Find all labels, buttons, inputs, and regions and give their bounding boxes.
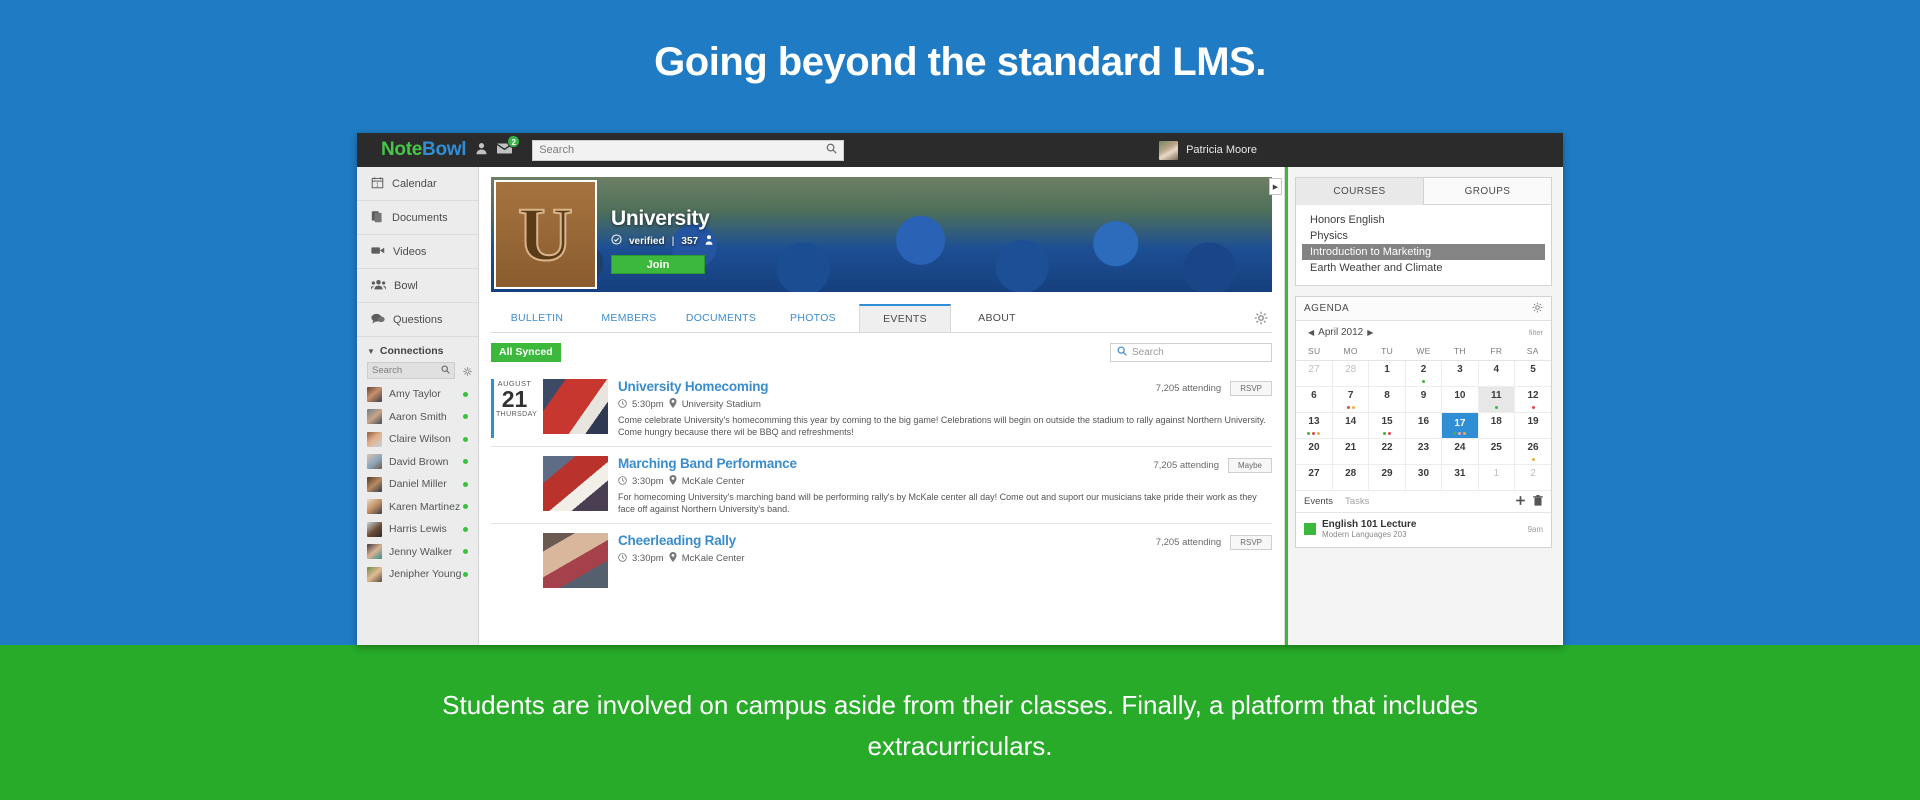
slide-headline: Going beyond the standard LMS. — [0, 40, 1920, 85]
calendar-day-cell[interactable]: 1 — [1369, 361, 1405, 387]
calendar-day-number: 13 — [1308, 416, 1319, 427]
calendar-event-dot — [1463, 432, 1466, 435]
tab-events[interactable]: EVENTS — [859, 304, 951, 332]
calendar-day-cell[interactable]: 17 — [1442, 413, 1478, 439]
list-item[interactable]: Jenny Walker — [357, 541, 478, 564]
calendar-day-cell[interactable]: 22 — [1369, 439, 1405, 465]
calendar-day-cell[interactable]: 1 — [1478, 465, 1514, 491]
event-title[interactable]: Marching Band Performance — [618, 456, 797, 471]
slide-subline: Students are involved on campus aside fr… — [400, 685, 1520, 767]
calendar-day-cell[interactable]: 31 — [1442, 465, 1478, 491]
calendar-day-dots — [1296, 432, 1332, 435]
sidebar-item-label: Videos — [393, 246, 426, 258]
list-item[interactable]: Marching Band Performance 7,205 attendin… — [491, 446, 1272, 515]
connection-name: Karen Martinez — [389, 501, 460, 513]
list-item[interactable]: AUGUST 21 THURSDAY University Homecoming… — [491, 370, 1272, 438]
calendar-event-dot — [1422, 380, 1425, 383]
video-camera-icon — [371, 244, 385, 260]
calendar-day-number: 5 — [1530, 364, 1536, 375]
event-time: 3:30pm — [632, 553, 664, 564]
tab-events[interactable]: Events — [1304, 496, 1333, 507]
agenda-actions — [1515, 495, 1543, 509]
avatar — [367, 544, 382, 559]
event-subline: 5:30pm University Stadium — [618, 398, 1272, 410]
agenda-item-text: English 101 Lecture Modern Languages 203 — [1322, 519, 1416, 539]
avatar — [367, 387, 382, 402]
calendar-day-cell[interactable]: 6 — [1296, 387, 1332, 413]
location-pin-icon — [669, 398, 677, 410]
weekday-header: TU — [1369, 343, 1405, 361]
calendar-day-number: 28 — [1345, 468, 1356, 479]
tab-label: GROUPS — [1465, 186, 1511, 197]
calendar-day-number: 11 — [1491, 390, 1502, 401]
connection-name: Aaron Smith — [389, 411, 447, 423]
group-logo-letter: U — [518, 197, 573, 273]
calendar-day-dots — [1442, 432, 1477, 435]
events-search-input[interactable]: Search — [1110, 343, 1272, 362]
status-badge — [463, 414, 468, 419]
calendar-day-cell[interactable]: 21 — [1332, 439, 1368, 465]
list-item[interactable]: Aaron Smith — [357, 406, 478, 429]
calendar-day-dots — [1333, 406, 1368, 409]
avatar — [367, 454, 382, 469]
status-badge — [463, 572, 468, 577]
notebowl-logo[interactable]: NoteBowl — [381, 139, 466, 161]
clock-icon — [618, 399, 627, 410]
join-label: Join — [647, 259, 670, 271]
group-meta: verified | 357 — [611, 234, 713, 248]
sidebar-item-bowl[interactable]: Bowl — [357, 269, 478, 303]
agenda-item-sub: Modern Languages 203 — [1322, 530, 1416, 539]
weekday-header: MO — [1332, 343, 1368, 361]
calendar-event-dot — [1495, 406, 1498, 409]
calendar-event-dot — [1532, 406, 1535, 409]
calendar-day-cell[interactable]: 14 — [1332, 413, 1368, 439]
search-icon — [1117, 346, 1127, 359]
calendar-event-dot — [1383, 432, 1386, 435]
agenda-item-name: English 101 Lecture — [1322, 519, 1416, 530]
person-icon[interactable] — [475, 142, 488, 158]
gear-icon[interactable] — [1254, 304, 1272, 332]
list-item[interactable]: Claire Wilson — [357, 428, 478, 451]
status-badge — [463, 549, 468, 554]
calendar-day-cell[interactable]: 4 — [1478, 361, 1514, 387]
courses-list: Honors English Physics Introduction to M… — [1296, 205, 1551, 285]
group-title: University — [611, 207, 713, 231]
calendar-week-row: 20212223242526 — [1296, 439, 1551, 465]
user-name: Patricia Moore — [1186, 144, 1257, 156]
gear-icon[interactable] — [463, 367, 472, 378]
envelope-icon[interactable]: 2 — [497, 142, 512, 158]
connection-name: Jenny Walker — [389, 546, 452, 558]
calendar-week-row: 272812345 — [1296, 361, 1551, 387]
calendar-day-cell[interactable]: 30 — [1405, 465, 1441, 491]
calendar-day-cell[interactable]: 13 — [1296, 413, 1332, 439]
calendar-day-number: 27 — [1308, 468, 1319, 479]
sidebar-item-videos[interactable]: Videos — [357, 235, 478, 269]
tab-courses[interactable]: COURSES — [1296, 178, 1423, 205]
tab-bulletin[interactable]: BULLETIN — [491, 304, 583, 332]
connection-name: Harris Lewis — [389, 523, 447, 535]
event-header: Marching Band Performance 7,205 attendin… — [618, 456, 1272, 473]
event-subline: 3:30pm McKale Center — [618, 475, 1272, 487]
messages-badge: 2 — [507, 135, 520, 148]
status-badge — [463, 459, 468, 464]
calendar-day-cell[interactable]: 20 — [1296, 439, 1332, 465]
connections-header[interactable]: ▼ Connections — [357, 337, 478, 362]
status-badge — [463, 437, 468, 442]
list-item[interactable]: Honors English — [1302, 212, 1545, 228]
calendar-day-number: 17 — [1451, 416, 1468, 431]
documents-icon — [371, 210, 384, 226]
chevron-right-icon[interactable]: ▶ — [1269, 178, 1282, 195]
connections-search-input[interactable]: Search — [367, 362, 455, 379]
triangle-right-icon[interactable]: ▶ — [1363, 328, 1377, 337]
left-sidebar: 1 Calendar Documents Videos — [357, 167, 479, 645]
weekday-header: TH — [1442, 343, 1478, 361]
calendar-day-cell[interactable]: 27 — [1296, 361, 1332, 387]
group-cover: U University verified | 357 — [491, 177, 1272, 292]
event-date — [491, 533, 533, 588]
filter-link[interactable]: filter — [1529, 328, 1543, 337]
month-navigator: ◀ April 2012 ▶ filter — [1296, 321, 1551, 343]
app-body: 1 Calendar Documents Videos — [357, 167, 1563, 645]
avatar — [367, 522, 382, 537]
clock-icon — [618, 553, 627, 564]
event-location: McKale Center — [682, 553, 745, 564]
event-weekday: THURSDAY — [496, 411, 533, 418]
calendar-day-dots — [1515, 458, 1551, 461]
event-body: University Homecoming 7,205 attending RS… — [618, 379, 1272, 438]
event-date: AUGUST 21 THURSDAY — [491, 379, 533, 438]
tab-documents[interactable]: DOCUMENTS — [675, 304, 767, 332]
cover-photo — [491, 177, 1272, 292]
event-actions: 7,205 attending RSVP — [1156, 533, 1272, 550]
calendar-day-number: 22 — [1381, 442, 1392, 453]
search-icon — [441, 365, 450, 377]
calendar-day-number: 2 — [1530, 468, 1536, 479]
group-tabs: BULLETIN MEMBERS DOCUMENTS PHOTOS EVENTS… — [491, 304, 1272, 333]
event-time: 3:30pm — [632, 476, 664, 487]
event-date — [491, 456, 533, 515]
calendar-grid: SU MO TU WE TH FR SA 2728123456789101112… — [1296, 343, 1551, 491]
event-description: For homecoming University's marching ban… — [618, 491, 1272, 515]
calendar-day-cell[interactable]: 25 — [1478, 439, 1514, 465]
calendar-day-number: 10 — [1454, 390, 1465, 401]
connections-title: Connections — [380, 345, 444, 357]
weekday-header: SU — [1296, 343, 1332, 361]
center-column: U University verified | 357 — [479, 167, 1284, 645]
sidebar-item-questions[interactable]: Questions — [357, 303, 478, 337]
calendar-day-number: 30 — [1418, 468, 1429, 479]
agenda-subtabs: Events Tasks — [1296, 491, 1551, 513]
connections-search-row: Search — [357, 362, 478, 383]
calendar-day-number: 9 — [1421, 390, 1427, 401]
global-search-placeholder: Search — [539, 144, 826, 156]
list-item[interactable]: Karen Martinez — [357, 496, 478, 519]
event-actions: 7,205 attending RSVP — [1156, 379, 1272, 396]
connection-name: Jenipher Young — [389, 568, 461, 580]
logo-note: Note — [381, 139, 422, 160]
calendar-day-cell[interactable]: 7 — [1332, 387, 1368, 413]
calendar-day-cell[interactable]: 16 — [1405, 413, 1441, 439]
list-item[interactable]: English 101 Lecture Modern Languages 203… — [1296, 513, 1551, 547]
calendar-day-cell[interactable]: 27 — [1296, 465, 1332, 491]
agenda-title: AGENDA — [1304, 303, 1349, 314]
rsvp-button[interactable]: RSVP — [1230, 381, 1272, 396]
chevron-down-icon: ▼ — [367, 347, 375, 356]
calendar-day-number: 8 — [1384, 390, 1390, 401]
group-icon — [371, 278, 386, 294]
calendar-day-cell[interactable]: 2 — [1515, 465, 1551, 491]
tab-about[interactable]: ABOUT — [951, 304, 1043, 332]
calendar-day-number: 3 — [1457, 364, 1463, 375]
calendar-weekday-row: SU MO TU WE TH FR SA — [1296, 343, 1551, 361]
user-menu[interactable]: Patricia Moore — [1159, 133, 1257, 167]
logo-bowl: Bowl — [422, 139, 466, 160]
speech-bubble-icon — [371, 312, 385, 328]
calendar-day-cell[interactable]: 28 — [1332, 361, 1368, 387]
tab-groups[interactable]: GROUPS — [1423, 178, 1551, 205]
divider: | — [672, 236, 675, 247]
events-list: AUGUST 21 THURSDAY University Homecoming… — [491, 370, 1272, 588]
calendar-event-dot — [1317, 432, 1320, 435]
event-description: Come celebrate University's homecomming … — [618, 414, 1272, 438]
tab-label: DOCUMENTS — [686, 312, 756, 324]
event-attending: 7,205 attending — [1156, 383, 1222, 394]
event-title[interactable]: Cheerleading Rally — [618, 533, 736, 548]
app-topbar: NoteBowl 2 Search Patricia Moore — [357, 133, 1563, 167]
join-button[interactable]: Join — [611, 255, 705, 274]
svg-text:1: 1 — [376, 182, 379, 188]
list-item[interactable]: Physics — [1302, 228, 1545, 244]
panel-accent-rail — [1285, 167, 1288, 645]
tab-members[interactable]: MEMBERS — [583, 304, 675, 332]
calendar-day-cell[interactable]: 18 — [1478, 413, 1514, 439]
calendar-day-cell[interactable]: 5 — [1515, 361, 1551, 387]
connection-name: Amy Taylor — [389, 388, 441, 400]
calendar-event-dot — [1312, 432, 1315, 435]
calendar-day-number: 16 — [1418, 416, 1429, 427]
calendar-event-dot — [1458, 432, 1461, 435]
tab-label: ABOUT — [978, 312, 1016, 324]
global-search-input[interactable]: Search — [532, 140, 844, 161]
calendar-day-number: 19 — [1527, 416, 1538, 427]
clock-icon — [618, 476, 627, 487]
agenda-color-swatch — [1304, 523, 1316, 535]
sync-label: All Synced — [499, 346, 553, 358]
cover-info: University verified | 357 Join — [611, 207, 713, 274]
location-pin-icon — [669, 552, 677, 564]
list-item[interactable]: Jenipher Young — [357, 563, 478, 586]
sidebar-item-label: Bowl — [394, 280, 418, 292]
event-thumbnail — [543, 533, 608, 588]
event-thumbnail — [543, 379, 608, 434]
calendar-day-number: 27 — [1308, 364, 1319, 375]
calendar-event-dot — [1532, 458, 1535, 461]
event-body: Marching Band Performance 7,205 attendin… — [618, 456, 1272, 515]
calendar-week-row: 272829303112 — [1296, 465, 1551, 491]
weekday-header: FR — [1478, 343, 1514, 361]
tab-photos[interactable]: PHOTOS — [767, 304, 859, 332]
calendar-event-dot — [1347, 406, 1350, 409]
group-logo[interactable]: U — [494, 180, 597, 289]
tab-label: MEMBERS — [601, 312, 656, 324]
calendar-day-number: 25 — [1491, 442, 1502, 453]
event-location: University Stadium — [682, 399, 761, 410]
connection-name: David Brown — [389, 456, 449, 468]
calendar-day-cell[interactable]: 15 — [1369, 413, 1405, 439]
calendar-day-cell[interactable]: 2 — [1405, 361, 1441, 387]
calendar-day-number: 4 — [1494, 364, 1500, 375]
list-item[interactable]: Cheerleading Rally 7,205 attending RSVP … — [491, 523, 1272, 588]
avatar — [367, 499, 382, 514]
calendar-day-number: 31 — [1454, 468, 1465, 479]
all-synced-button[interactable]: All Synced — [491, 343, 561, 362]
calendar-day-number: 24 — [1454, 442, 1465, 453]
event-day: 21 — [496, 388, 533, 411]
agenda-panel: AGENDA ◀ April 2012 ▶ filter SU MO — [1295, 296, 1552, 548]
event-title[interactable]: University Homecoming — [618, 379, 768, 394]
sidebar-item-label: Documents — [392, 212, 448, 224]
connections-search-placeholder: Search — [372, 365, 441, 376]
status-badge — [463, 527, 468, 532]
avatar — [367, 409, 382, 424]
calendar-day-cell[interactable]: 24 — [1442, 439, 1478, 465]
notebowl-app-window: NoteBowl 2 Search Patricia Moore 1 — [357, 133, 1563, 645]
connection-name: Claire Wilson — [389, 433, 451, 445]
sidebar-item-documents[interactable]: Documents — [357, 201, 478, 235]
member-icon — [705, 235, 713, 248]
calendar-day-cell[interactable]: 12 — [1515, 387, 1551, 413]
event-subline: 3:30pm McKale Center — [618, 552, 1272, 564]
tab-label: EVENTS — [883, 313, 927, 325]
event-actions: 7,205 attending Maybe — [1153, 456, 1272, 473]
avatar — [1159, 141, 1178, 160]
list-item-selected[interactable]: Introduction to Marketing — [1302, 244, 1545, 260]
connection-name: Daniel Miller — [389, 478, 447, 490]
courses-groups-tabs: COURSES GROUPS — [1296, 178, 1551, 205]
calendar-week-row: 13141516171819 — [1296, 413, 1551, 439]
verified-label: verified — [629, 236, 665, 247]
calendar-day-number: 7 — [1348, 390, 1354, 401]
calendar-day-cell[interactable]: 26 — [1515, 439, 1551, 465]
agenda-header: AGENDA — [1296, 297, 1551, 321]
calendar-day-dots — [1479, 406, 1514, 409]
location-pin-icon — [669, 475, 677, 487]
events-toolbar: All Synced Search — [491, 342, 1272, 363]
calendar-day-dots — [1406, 380, 1441, 383]
triangle-left-icon[interactable]: ◀ — [1304, 328, 1318, 337]
calendar-event-dot — [1453, 432, 1456, 435]
gear-icon[interactable] — [1532, 302, 1543, 316]
calendar-day-cell[interactable]: 3 — [1442, 361, 1478, 387]
event-location: McKale Center — [682, 476, 745, 487]
calendar-day-number: 6 — [1311, 390, 1317, 401]
calendar-day-cell[interactable]: 29 — [1369, 465, 1405, 491]
event-body: Cheerleading Rally 7,205 attending RSVP … — [618, 533, 1272, 588]
calendar-day-cell[interactable]: 11 — [1478, 387, 1514, 413]
tab-label: PHOTOS — [790, 312, 836, 324]
calendar-day-dots — [1369, 432, 1404, 435]
member-count: 357 — [681, 236, 698, 247]
agenda-item-time: 9am — [1527, 525, 1543, 534]
calendar-event-dot — [1307, 432, 1310, 435]
calendar-day-cell[interactable]: 23 — [1405, 439, 1441, 465]
trash-icon[interactable] — [1533, 495, 1543, 509]
calendar-day-number: 18 — [1491, 416, 1502, 427]
calendar-body: 2728123456789101112131415161718192021222… — [1296, 361, 1551, 491]
status-badge — [463, 392, 468, 397]
plus-icon[interactable] — [1515, 495, 1526, 509]
status-badge — [463, 482, 468, 487]
weekday-header: SA — [1515, 343, 1551, 361]
calendar-day-number: 20 — [1308, 442, 1319, 453]
calendar-week-row: 6789101112 — [1296, 387, 1551, 413]
calendar-day-number: 29 — [1381, 468, 1392, 479]
event-header: University Homecoming 7,205 attending RS… — [618, 379, 1272, 396]
verified-icon — [611, 234, 622, 248]
calendar-day-number: 23 — [1418, 442, 1429, 453]
avatar — [367, 477, 382, 492]
sidebar-item-label: Calendar — [392, 178, 437, 190]
calendar-day-dots — [1515, 406, 1551, 409]
list-item[interactable]: Daniel Miller — [357, 473, 478, 496]
calendar-day-cell[interactable]: 19 — [1515, 413, 1551, 439]
month-label: April 2012 — [1318, 327, 1363, 338]
calendar-event-dot — [1388, 432, 1391, 435]
calendar-event-dot — [1352, 406, 1355, 409]
list-item[interactable]: Amy Taylor — [357, 383, 478, 406]
events-search-placeholder: Search — [1132, 347, 1164, 358]
calendar-day-number: 21 — [1345, 442, 1356, 453]
calendar-day-number: 12 — [1527, 390, 1538, 401]
avatar — [367, 432, 382, 447]
list-item[interactable]: Harris Lewis — [357, 518, 478, 541]
calendar-day-number: 2 — [1421, 364, 1427, 375]
sidebar-item-calendar[interactable]: 1 Calendar — [357, 167, 478, 201]
event-time: 5:30pm — [632, 399, 664, 410]
right-panel: ▶ COURSES GROUPS Honors English Physics … — [1284, 167, 1562, 645]
calendar-day-number: 28 — [1345, 364, 1356, 375]
calendar-day-number: 1 — [1384, 364, 1390, 375]
list-item[interactable]: Earth Weather and Climate — [1302, 260, 1545, 276]
calendar-icon: 1 — [371, 176, 384, 192]
tab-label: COURSES — [1333, 186, 1385, 197]
avatar — [367, 567, 382, 582]
calendar-day-cell[interactable]: 9 — [1405, 387, 1441, 413]
rsvp-button[interactable]: Maybe — [1228, 458, 1272, 473]
search-icon — [826, 143, 837, 157]
status-badge — [463, 504, 468, 509]
event-attending: 7,205 attending — [1156, 537, 1222, 548]
tab-tasks[interactable]: Tasks — [1345, 496, 1369, 507]
calendar-day-cell[interactable]: 28 — [1332, 465, 1368, 491]
courses-panel: COURSES GROUPS Honors English Physics In… — [1295, 177, 1552, 286]
rsvp-button[interactable]: RSVP — [1230, 535, 1272, 550]
event-attending: 7,205 attending — [1153, 460, 1219, 471]
calendar-day-number: 1 — [1494, 468, 1500, 479]
calendar-day-cell[interactable]: 8 — [1369, 387, 1405, 413]
calendar-day-number: 26 — [1527, 442, 1538, 453]
tab-label: BULLETIN — [511, 312, 564, 324]
list-item[interactable]: David Brown — [357, 451, 478, 474]
calendar-day-cell[interactable]: 10 — [1442, 387, 1478, 413]
event-thumbnail — [543, 456, 608, 511]
event-header: Cheerleading Rally 7,205 attending RSVP — [618, 533, 1272, 550]
weekday-header: WE — [1405, 343, 1441, 361]
calendar-day-number: 15 — [1381, 416, 1392, 427]
